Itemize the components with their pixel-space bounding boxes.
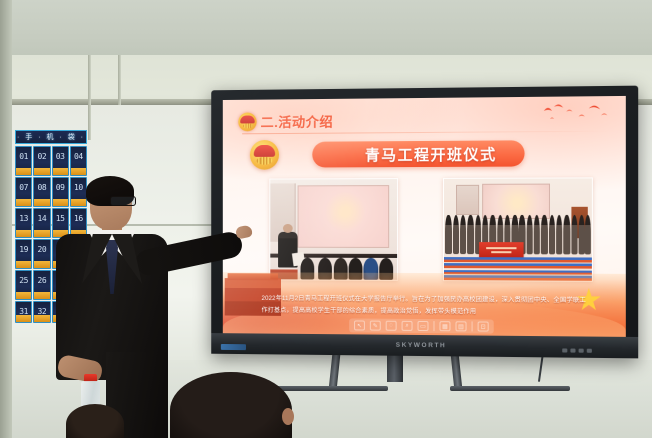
pocket-cell: 03 <box>52 146 69 176</box>
powerpoint-slide[interactable]: 二.活动介绍 青马工程开班仪式 <box>223 96 626 337</box>
title-youth-league-emblem-icon <box>250 140 279 170</box>
presenter <box>38 178 228 378</box>
pocket-number: 19 <box>16 245 31 254</box>
display-ports[interactable] <box>562 347 624 353</box>
slide-title-bar: 青马工程开班仪式 <box>312 140 524 167</box>
wall-upper <box>0 0 652 62</box>
pointer-icon[interactable]: ↖ <box>354 320 365 330</box>
eyeglasses-icon <box>110 196 136 206</box>
youth-league-emblem-icon <box>238 112 256 131</box>
slide-section-header: 二.活动介绍 <box>238 111 333 132</box>
photo-group <box>443 177 593 281</box>
section-header-text: 二.活动介绍 <box>261 111 334 131</box>
pocket-number: 03 <box>53 152 68 161</box>
display-screen[interactable]: 二.活动介绍 青马工程开班仪式 <box>223 96 626 337</box>
display-stand-column <box>387 352 403 382</box>
toolbar-separator <box>472 321 473 331</box>
screen-icon[interactable]: ▭ <box>418 321 429 331</box>
pocket-cell: 13 <box>15 208 32 238</box>
toolbar-separator <box>433 321 434 331</box>
pocket-number: 13 <box>16 214 31 223</box>
pocket-number: 04 <box>71 152 86 161</box>
wall-seam-mid <box>118 55 121 105</box>
pocket-cell: 07 <box>15 177 32 207</box>
highlighter-icon[interactable]: ◌ <box>386 321 397 331</box>
wall-left-edge <box>0 0 12 438</box>
pocket-cell: 02 <box>33 146 50 176</box>
display-stand-foot-right <box>450 386 570 391</box>
photo-lecture <box>269 178 398 281</box>
header-divider <box>242 131 611 135</box>
pocket-cell: 04 <box>70 146 87 176</box>
pocket-number: 02 <box>34 152 49 161</box>
grid-icon[interactable]: ▦ <box>439 321 450 331</box>
pocket-cell: 31 <box>15 301 32 323</box>
zoom-icon[interactable]: ⌕ <box>402 321 413 331</box>
wall-seam-left <box>88 55 91 140</box>
smart-display[interactable]: 二.活动介绍 青马工程开班仪式 <box>211 86 638 359</box>
display-brand-label: SKYWORTH <box>396 342 447 350</box>
foreground-student-ear <box>282 408 294 425</box>
display-stand-foot-left <box>268 386 388 391</box>
foreground-student-head-center <box>170 372 292 438</box>
pocket-cell: 01 <box>15 146 32 176</box>
slide-body-text: 2022年11月2日青马工程开班仪式在大学报告厅举行。旨在为了加强民办高校团建设… <box>262 293 591 318</box>
pocket-number: 25 <box>16 276 31 285</box>
pocket-number: 07 <box>16 183 31 192</box>
pocket-chart-header: · 手 · 机 · 袋 · <box>15 130 87 144</box>
pocket-number: 01 <box>16 152 31 161</box>
more-icon[interactable]: ⊡ <box>478 321 489 331</box>
pocket-number: 31 <box>16 307 31 316</box>
pocket-cell: 19 <box>15 239 32 269</box>
notes-icon[interactable]: ▤ <box>456 321 467 331</box>
presentation-toolbar[interactable]: ↖ ✎ ◌ ⌕ ▭ ▦ ▤ ⊡ <box>349 318 494 333</box>
foreground-student-head-left <box>66 404 124 438</box>
flying-birds-icon <box>540 102 614 127</box>
pen-icon[interactable]: ✎ <box>370 321 381 331</box>
pocket-cell: 25 <box>15 270 32 300</box>
classroom-scene: · 手 · 机 · 袋 · 01 02 03 04 07 08 09 10 13… <box>0 0 652 438</box>
slide-title-text: 青马工程开班仪式 <box>339 143 497 165</box>
pocket-row: 01 02 03 04 <box>15 146 87 176</box>
